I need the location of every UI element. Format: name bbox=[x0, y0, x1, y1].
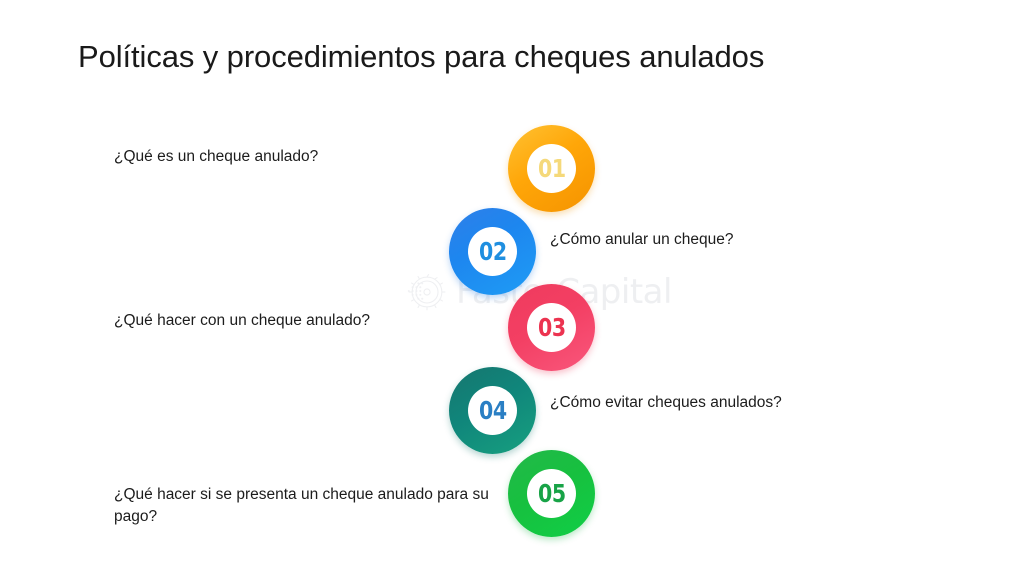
page-title: Políticas y procedimientos para cheques … bbox=[78, 37, 978, 77]
step-label-03: ¿Qué hacer con un cheque anulado? bbox=[114, 310, 454, 332]
step-circle-01[interactable]: 01 bbox=[508, 125, 595, 212]
slide-canvas: Políticas y procedimientos para cheques … bbox=[0, 0, 1024, 576]
step-label-04: ¿Cómo evitar cheques anulados? bbox=[550, 392, 930, 414]
step-number-01: 01 bbox=[538, 156, 566, 181]
step-circle-inner-03: 03 bbox=[527, 303, 576, 352]
step-circle-inner-05: 05 bbox=[527, 469, 576, 518]
step-circle-inner-02: 02 bbox=[468, 227, 517, 276]
step-circle-04[interactable]: 04 bbox=[449, 367, 536, 454]
step-circle-inner-01: 01 bbox=[527, 144, 576, 193]
step-number-02: 02 bbox=[479, 239, 507, 264]
step-label-02: ¿Cómo anular un cheque? bbox=[550, 229, 910, 251]
step-circle-inner-04: 04 bbox=[468, 386, 517, 435]
step-circle-02[interactable]: 02 bbox=[449, 208, 536, 295]
step-number-05: 05 bbox=[538, 481, 566, 506]
step-label-05: ¿Qué hacer si se presenta un cheque anul… bbox=[114, 484, 494, 528]
step-number-03: 03 bbox=[538, 315, 566, 340]
step-label-01: ¿Qué es un cheque anulado? bbox=[114, 146, 444, 168]
step-number-04: 04 bbox=[479, 398, 507, 423]
step-circle-03[interactable]: 03 bbox=[508, 284, 595, 371]
step-circle-05[interactable]: 05 bbox=[508, 450, 595, 537]
gear-logo-icon bbox=[404, 269, 450, 315]
